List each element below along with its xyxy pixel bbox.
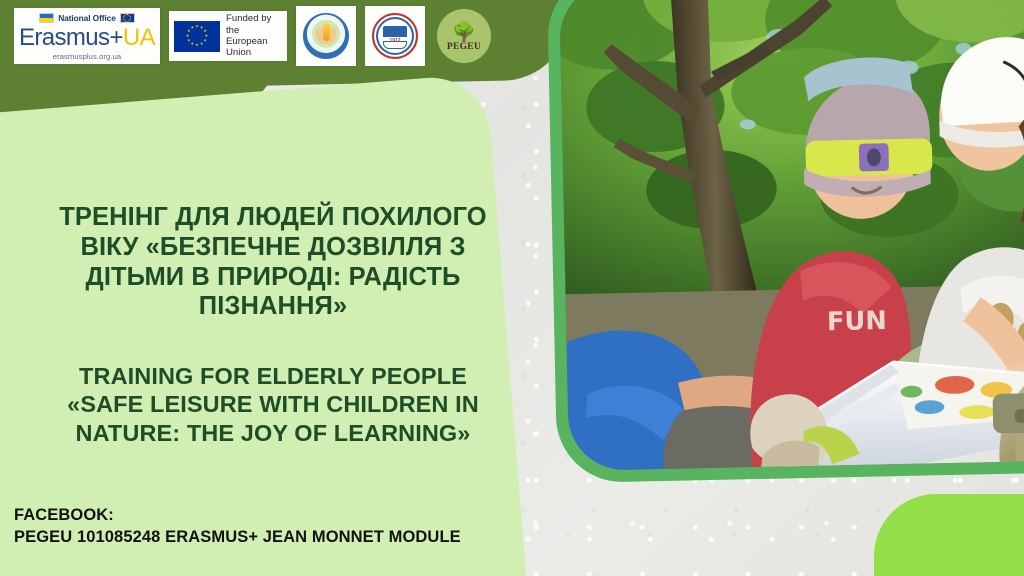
erasmus-wordmark-main: Erasmus+ (19, 24, 123, 51)
erasmus-url: erasmusplus.org.ua (53, 52, 122, 61)
eu-flag-icon (120, 13, 135, 23)
photo-children-reading: FUN (559, 0, 1024, 471)
logo-ministry (296, 6, 356, 66)
photo-frame: FUN (547, 0, 1024, 483)
accent-shape-bottom-right (874, 494, 1024, 576)
title-ukrainian-line: ТРЕНІНГ ДЛЯ ЛЮДЕЙ ПОХИЛОГО (24, 203, 522, 233)
logo-university-seal: 1912 (365, 6, 425, 66)
svg-text:FUN: FUN (827, 306, 887, 337)
open-book-icon (383, 41, 407, 49)
footer-facebook-page: PEGEU 101085248 ERASMUS+ JEAN MONNET MOD… (14, 527, 461, 549)
title-english-line: «SAFE LEISURE WITH CHILDREN IN (24, 390, 522, 418)
university-building-icon (383, 26, 407, 37)
title-ukrainian: ТРЕНІНГ ДЛЯ ЛЮДЕЙ ПОХИЛОГО ВІКУ «БЕЗПЕЧН… (24, 203, 522, 322)
funded-by-eu-label: Funded by the European Union (226, 13, 282, 58)
logo-erasmus-ua: National Office Erasmus+UA erasmusplus.o… (14, 8, 160, 64)
hands-holding-torch-emblem-icon (303, 13, 349, 59)
title-ukrainian-line: ВІКУ «БЕЗПЕЧНЕ ДОЗВІЛЛЯ З (24, 233, 522, 263)
tree-icon: 🌳 (452, 23, 476, 42)
logo-strip: National Office Erasmus+UA erasmusplus.o… (14, 6, 494, 66)
erasmus-wordmark-accent: UA (123, 24, 155, 51)
title-ukrainian-line: ПІЗНАННЯ» (24, 292, 522, 322)
eu-stars-icon (174, 21, 220, 52)
erasmus-national-office-label: National Office (58, 13, 116, 23)
logo-pegeu: 🌳 PEGEU (434, 6, 494, 66)
ukraine-flag-icon (39, 13, 54, 23)
pegeu-label: PEGEU (447, 42, 481, 52)
funded-by-eu-line2: European Union (226, 36, 282, 59)
footer-facebook-label: FACEBOOK: (14, 505, 461, 527)
content-panel (0, 73, 531, 576)
pegeu-emblem: 🌳 PEGEU (437, 9, 491, 63)
title-english-line: NATURE: THE JOY OF LEARNING» (24, 419, 522, 447)
eu-flag-icon (174, 21, 220, 52)
title-english: TRAINING FOR ELDERLY PEOPLE «SAFE LEISUR… (24, 362, 522, 447)
title-english-line: TRAINING FOR ELDERLY PEOPLE (24, 362, 522, 390)
funded-by-eu-line1: Funded by the (226, 13, 282, 36)
poster-canvas: FUN (0, 0, 1024, 576)
footer-contact: FACEBOOK: PEGEU 101085248 ERASMUS+ JEAN … (14, 505, 461, 549)
logo-funded-by-eu: Funded by the European Union (169, 11, 287, 61)
erasmus-wordmark: Erasmus+UA (19, 26, 155, 50)
university-seal-icon: 1912 (372, 13, 418, 59)
title-ukrainian-line: ДІТЬМИ В ПРИРОДІ: РАДІСТЬ (24, 263, 522, 293)
